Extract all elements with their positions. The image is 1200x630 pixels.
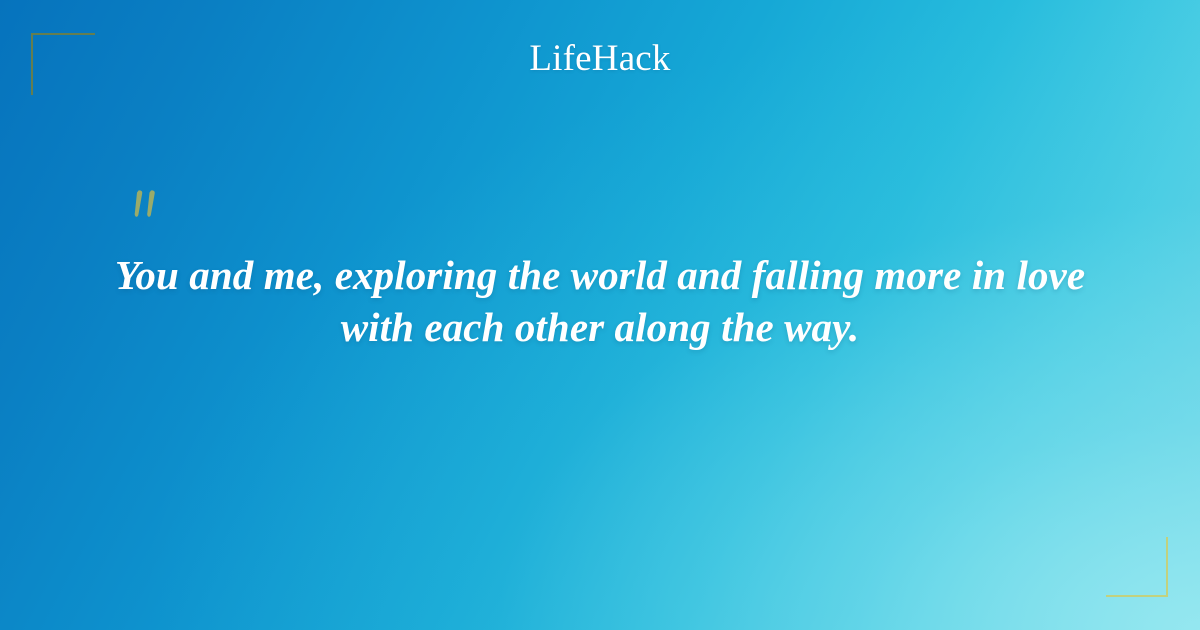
- quotation-mark-icon: [128, 186, 174, 232]
- quote-line: with each other along the way.: [110, 301, 1090, 353]
- corner-bracket-bottom-right-icon: [1106, 537, 1168, 597]
- quote-card: LifeHack You and me, exploring the world…: [0, 0, 1200, 630]
- quote-line: You and me, exploring the world and fall…: [110, 249, 1090, 301]
- quote-text: You and me, exploring the world and fall…: [110, 249, 1090, 353]
- lifehack-logo: LifeHack: [529, 40, 670, 77]
- brand-header: LifeHack: [0, 40, 1200, 77]
- quote-block: You and me, exploring the world and fall…: [0, 186, 1200, 353]
